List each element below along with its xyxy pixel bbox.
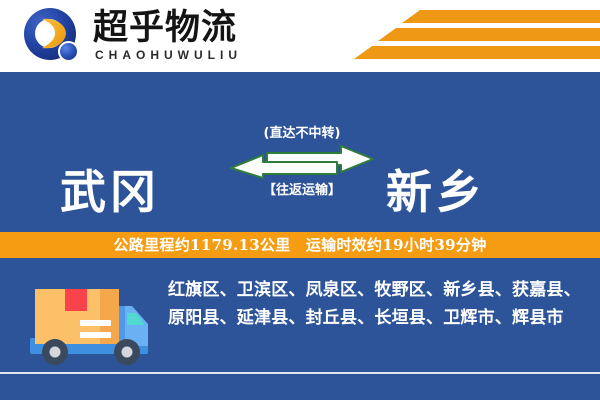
route-section: 武冈 (直达不中转) 【往返运输】 新乡 bbox=[0, 74, 600, 228]
destination-city: 新乡 bbox=[386, 166, 486, 218]
district-line-2: 原阳县、延津县、封丘县、长垣县、卫辉市、辉县市 bbox=[168, 304, 580, 332]
brand-name-en: CHAOHUWULIU bbox=[93, 48, 242, 63]
logo-small-circle bbox=[58, 41, 79, 62]
brand-logo[interactable]: 超乎物流 CHAOHUWULIU bbox=[22, 7, 242, 65]
stripe-2 bbox=[378, 28, 600, 41]
direct-shipping-label: (直达不中转) bbox=[264, 126, 341, 142]
brand-name-cn: 超乎物流 bbox=[93, 9, 242, 47]
header-bar: 超乎物流 CHAOHUWULIU bbox=[0, 0, 600, 72]
distance-duration-text: 公路里程约1179.13公里 运输时效约19小时39分钟 bbox=[114, 235, 487, 255]
header-stripe-decoration bbox=[340, 8, 600, 66]
coverage-section: 红旗区、卫滨区、凤泉区、牧野区、新乡县、获嘉县、 原阳县、延津县、封丘县、长垣县… bbox=[0, 258, 600, 400]
district-list: 红旗区、卫滨区、凤泉区、牧野区、新乡县、获嘉县、 原阳县、延津县、封丘县、长垣县… bbox=[168, 276, 580, 332]
delivery-truck-icon bbox=[26, 276, 156, 371]
bidirectional-arrow-icon bbox=[229, 145, 375, 179]
bottom-divider bbox=[0, 372, 600, 374]
circle-moon-logo-icon bbox=[22, 7, 84, 65]
stripe-3 bbox=[354, 46, 600, 59]
distance-duration-bar: 公路里程约1179.13公里 运输时效约19小时39分钟 bbox=[0, 232, 600, 258]
district-line-1: 红旗区、卫滨区、凤泉区、牧野区、新乡县、获嘉县、 bbox=[168, 276, 580, 304]
brand-text: 超乎物流 CHAOHUWULIU bbox=[93, 9, 242, 63]
round-trip-label: 【往返运输】 bbox=[263, 183, 341, 199]
logistics-route-banner: 超乎物流 CHAOHUWULIU 武冈 (直达不中转) 【往返运输】 新乡 公 bbox=[0, 0, 600, 400]
route-arrow-group: (直达不中转) 【往返运输】 bbox=[228, 126, 376, 218]
origin-city: 武冈 bbox=[60, 166, 160, 218]
stripe-1 bbox=[402, 10, 600, 23]
